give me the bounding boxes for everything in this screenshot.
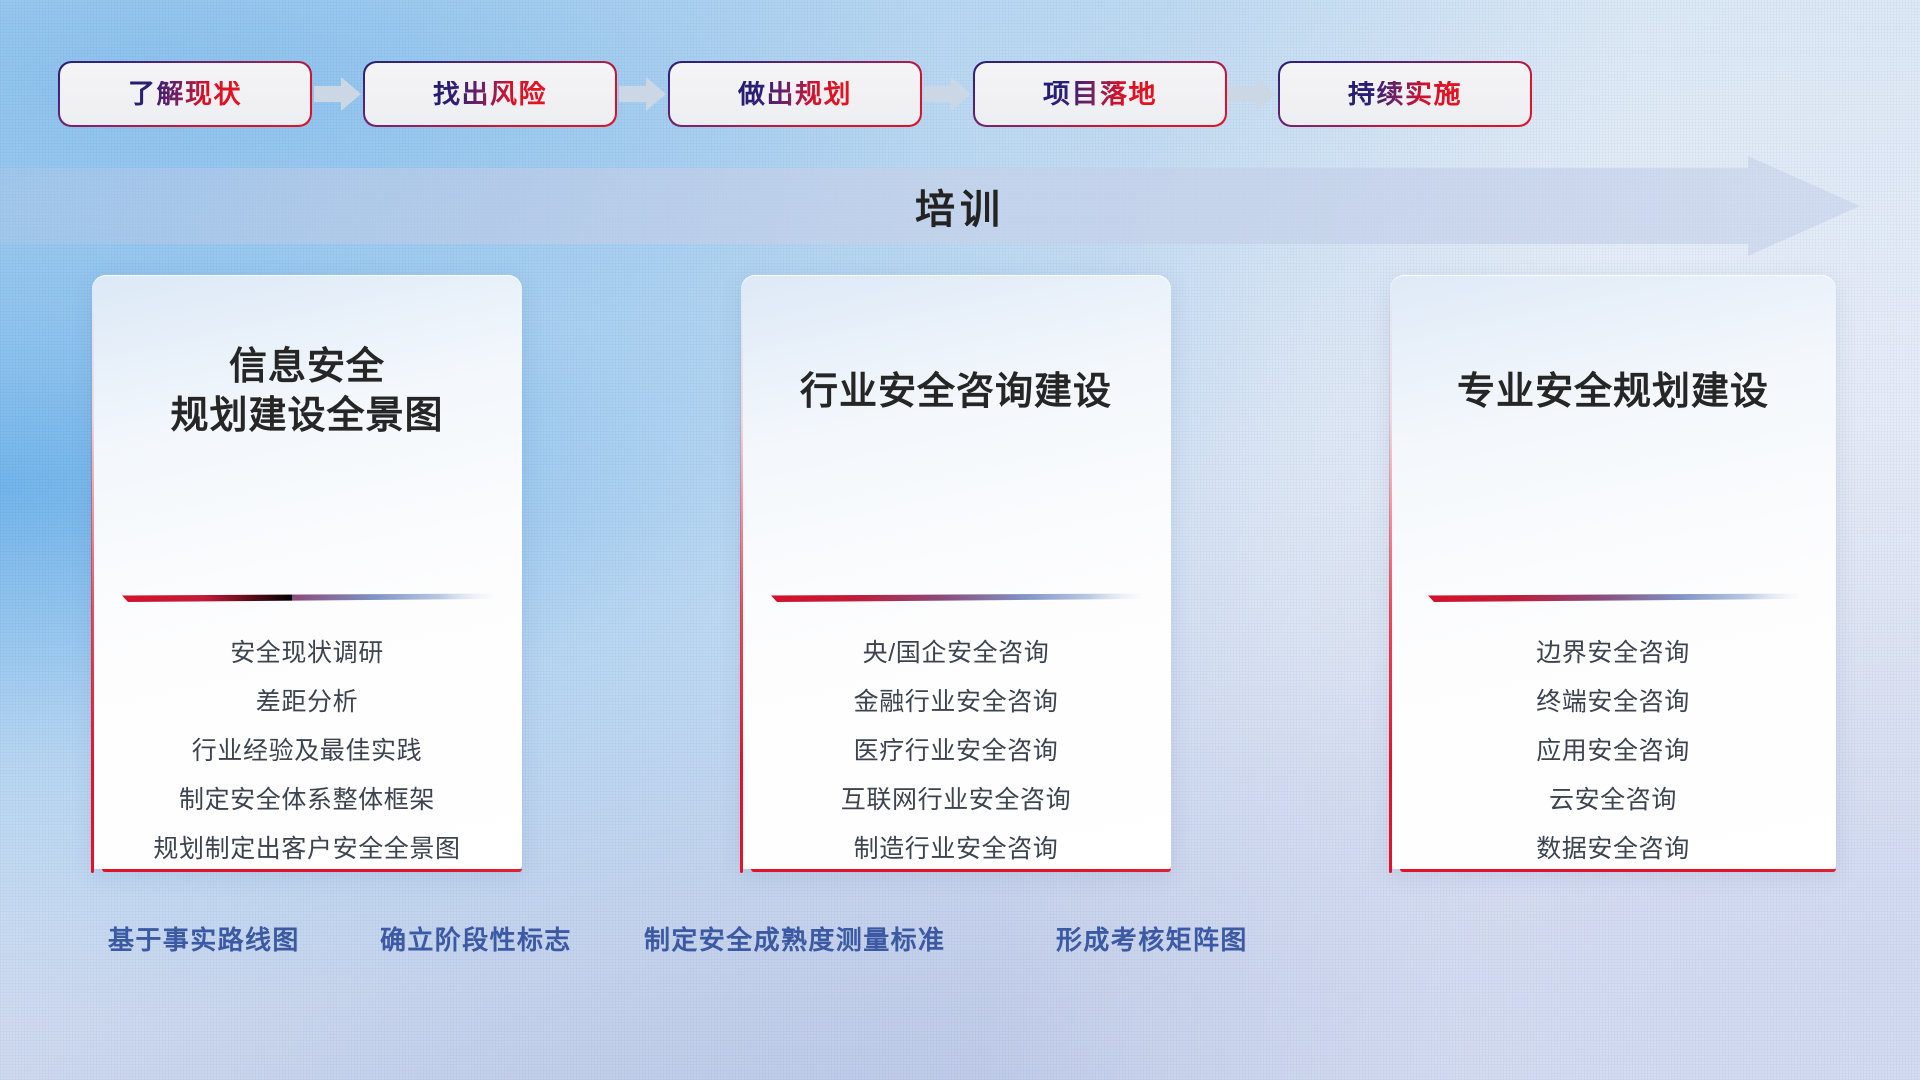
list-item: 行业经验及最佳实践 xyxy=(192,731,422,771)
card-industry-consulting-divider xyxy=(771,593,1141,603)
step-pill-4-label: 项目落地 xyxy=(1043,81,1157,108)
card-panorama[interactable]: 信息安全 规划建设全景图 xyxy=(92,275,522,869)
card-professional-planning-divider xyxy=(1428,593,1798,603)
card-industry-consulting-title: 行业安全咨询建设 xyxy=(800,368,1112,417)
card-panorama-list: 安全现状调研 差距分析 行业经验及最佳实践 制定安全体系整体框架 规划制定出客户… xyxy=(110,603,504,869)
list-item: 金融行业安全咨询 xyxy=(854,682,1059,722)
card-professional-planning-title: 专业安全规划建设 xyxy=(1457,368,1769,417)
list-item: 规划制定出客户安全全景图 xyxy=(153,829,460,869)
list-item: 边界安全咨询 xyxy=(1536,633,1690,673)
card-professional-planning-body: 专业安全规划建设 xyxy=(1408,317,1818,869)
list-item: 央/国企安全咨询 xyxy=(863,633,1050,673)
card-panorama-title-zone: 信息安全 规划建设全景图 xyxy=(170,317,443,467)
list-item: 医疗行业安全咨询 xyxy=(854,731,1059,771)
process-steps: 了解现状 找出风险 做出规划 项目落地 持续实施 xyxy=(60,63,1860,125)
step-pill-2[interactable]: 找出风险 xyxy=(365,63,615,125)
card-professional-planning-list: 边界安全咨询 终端安全咨询 应用安全咨询 云安全咨询 数据安全咨询 xyxy=(1408,603,1818,869)
step-arrow-icon-1 xyxy=(310,74,365,114)
card-panorama-body: 信息安全 规划建设全景图 xyxy=(110,317,504,869)
list-item: 制定安全体系整体框架 xyxy=(179,780,435,820)
list-item: 互联网行业安全咨询 xyxy=(841,780,1071,820)
card-industry-consulting-list: 央/国企安全咨询 金融行业安全咨询 医疗行业安全咨询 互联网行业安全咨询 制造行… xyxy=(759,603,1153,869)
footnote-labels: 基于事实路线图 确立阶段性标志 制定安全成熟度测量标准 形成考核矩阵图 xyxy=(0,920,1920,968)
list-item: 制造行业安全咨询 xyxy=(854,829,1059,869)
card-industry-consulting[interactable]: 行业安全咨询建设 xyxy=(741,275,1171,869)
list-item: 数据安全咨询 xyxy=(1536,829,1690,869)
step-arrow-icon-2 xyxy=(615,74,670,114)
step-pill-2-label: 找出风险 xyxy=(433,81,547,108)
footnote-label-1: 基于事实路线图 xyxy=(108,920,300,957)
training-band-title: 培训 xyxy=(0,156,1920,256)
step-pill-1[interactable]: 了解现状 xyxy=(60,63,310,125)
step-pill-1-label: 了解现状 xyxy=(128,81,242,108)
list-item: 差距分析 xyxy=(256,682,358,722)
footnote-label-4: 形成考核矩阵图 xyxy=(1056,920,1248,957)
step-pill-5-label: 持续实施 xyxy=(1348,81,1462,108)
step-pill-4[interactable]: 项目落地 xyxy=(975,63,1225,125)
footnote-label-2: 确立阶段性标志 xyxy=(380,920,572,957)
list-item: 应用安全咨询 xyxy=(1536,731,1690,771)
card-industry-consulting-title-zone: 行业安全咨询建设 xyxy=(800,317,1112,467)
capability-cards: 信息安全 规划建设全景图 xyxy=(92,275,1836,869)
card-professional-planning-title-zone: 专业安全规划建设 xyxy=(1457,317,1769,467)
step-pill-5[interactable]: 持续实施 xyxy=(1280,63,1530,125)
footnote-label-3: 制定安全成熟度测量标准 xyxy=(644,920,945,957)
card-panorama-title: 信息安全 规划建设全景图 xyxy=(170,343,443,440)
card-panorama-divider xyxy=(122,593,492,603)
step-pill-3[interactable]: 做出规划 xyxy=(670,63,920,125)
step-arrow-icon-3 xyxy=(920,74,975,114)
card-industry-consulting-body: 行业安全咨询建设 xyxy=(759,317,1153,869)
step-arrow-icon-4 xyxy=(1225,74,1280,114)
list-item: 云安全咨询 xyxy=(1549,780,1677,820)
list-item: 终端安全咨询 xyxy=(1536,682,1690,722)
step-pill-3-label: 做出规划 xyxy=(738,81,852,108)
card-professional-planning[interactable]: 专业安全规划建设 xyxy=(1390,275,1836,869)
list-item: 安全现状调研 xyxy=(230,633,384,673)
